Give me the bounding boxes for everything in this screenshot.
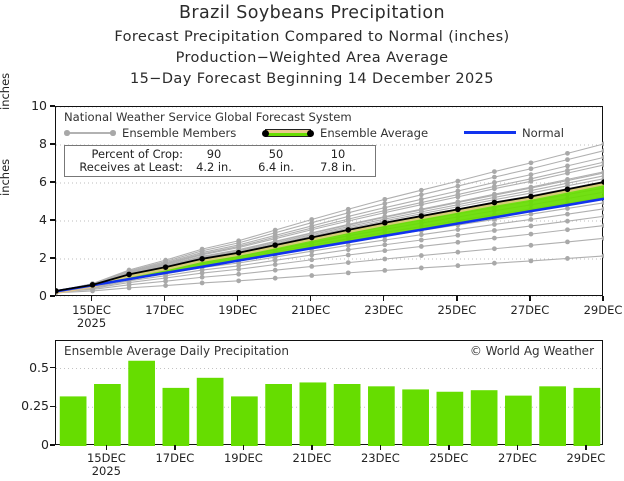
bottom-x-tick-mark — [585, 445, 586, 450]
main-y-tick: 2 — [7, 250, 47, 265]
percent-of-crop-box: Percent of Crop: 90 50 10 Receives at Le… — [64, 145, 376, 177]
copyright-label: © World Ag Weather — [470, 344, 594, 358]
main-x-tick-label: 19DEC — [218, 303, 257, 317]
main-x-tick-label: 29DEC — [584, 303, 623, 317]
chart-legend: Ensemble Members Ensemble Average Normal — [64, 126, 600, 140]
percentile-50: 50 — [245, 148, 307, 161]
main-x-tick-mark — [164, 296, 165, 301]
bottom-x-tick-label: 15DEC — [87, 451, 126, 465]
bottom-y-tick-mark — [50, 406, 55, 407]
bottom-y-tick: 0 — [5, 437, 49, 452]
bottom-x-tick-label: 21DEC — [292, 451, 331, 465]
main-y-tick: 8 — [7, 136, 47, 151]
main-x-tick-label: 27DEC — [511, 303, 550, 317]
main-x-tick-label: 21DEC — [291, 303, 330, 317]
legend-source-label: National Weather Service Global Forecast… — [64, 110, 352, 124]
daily-precip-bars — [60, 361, 600, 446]
ensemble-members-line-icon — [64, 127, 116, 139]
subtitle-line-3: 15−Day Forecast Beginning 14 December 20… — [0, 71, 624, 87]
main-x-axis-year: 2025 — [77, 316, 106, 330]
legend-ensemble-average: Ensemble Average — [262, 126, 428, 140]
bottom-y-axis-label: inches — [0, 94, 12, 110]
bottom-x-axis-year: 2025 — [92, 464, 121, 478]
bottom-x-tick-mark — [380, 445, 381, 450]
bottom-y-tick: 0.25 — [5, 398, 49, 413]
main-x-tick-mark — [237, 296, 238, 301]
bottom-x-tick-label: 23DEC — [361, 451, 400, 465]
main-y-tick: 0 — [7, 288, 47, 303]
legend-normal-label: Normal — [522, 126, 564, 140]
percentile-10: 10 — [307, 148, 369, 161]
main-x-tick-mark — [602, 296, 603, 301]
percent-of-crop-row: Percent of Crop: 90 50 10 — [71, 148, 369, 161]
main-x-tick-label: 15DEC — [72, 303, 111, 317]
main-y-tick-mark — [50, 181, 55, 182]
cumulative-precip-chart: National Weather Service Global Forecast… — [55, 106, 603, 296]
legend-ensemble-members: Ensemble Members — [64, 126, 236, 140]
main-x-tick-mark — [456, 296, 457, 301]
bottom-x-tick-label: 27DEC — [498, 451, 537, 465]
legend-members-label: Ensemble Members — [122, 126, 236, 140]
main-y-tick-mark — [50, 105, 55, 106]
receives-at-least-row: Receives at Least: 4.2 in. 6.4 in. 7.8 i… — [71, 161, 369, 174]
percentile-90: 90 — [183, 148, 245, 161]
bottom-x-tick-mark — [448, 445, 449, 450]
main-x-tick-label: 23DEC — [364, 303, 403, 317]
legend-normal: Normal — [464, 126, 564, 140]
receives-at-least-label: Receives at Least: — [71, 161, 183, 174]
amount-10: 7.8 in. — [307, 161, 369, 174]
amount-50: 6.4 in. — [245, 161, 307, 174]
main-x-tick-mark — [383, 296, 384, 301]
main-x-tick-label: 17DEC — [145, 303, 184, 317]
main-y-tick: 10 — [7, 98, 47, 113]
normal-line — [56, 199, 604, 292]
daily-precip-chart: Ensemble Average Daily Precipitation © W… — [55, 340, 603, 445]
bottom-x-tick-label: 19DEC — [224, 451, 263, 465]
bottom-x-tick-label: 25DEC — [429, 451, 468, 465]
legend-average-label: Ensemble Average — [320, 126, 428, 140]
main-x-tick-mark — [91, 296, 92, 301]
subtitle-line-1: Forecast Precipitation Compared to Norma… — [0, 29, 624, 45]
main-x-tick-mark — [529, 296, 530, 301]
bottom-chart-title: Ensemble Average Daily Precipitation — [64, 344, 289, 358]
bottom-x-tick-mark — [174, 445, 175, 450]
subtitle-line-2: Production−Weighted Area Average — [0, 50, 624, 66]
ensemble-average-swatch-icon — [262, 127, 314, 139]
bottom-x-tick-label: 29DEC — [566, 451, 605, 465]
bottom-x-tick-mark — [106, 445, 107, 450]
bottom-x-tick-mark — [311, 445, 312, 450]
percent-of-crop-label: Percent of Crop: — [71, 148, 183, 161]
normal-line-icon — [464, 127, 516, 139]
main-y-tick-mark — [50, 257, 55, 258]
amount-90: 4.2 in. — [183, 161, 245, 174]
main-x-tick-mark — [310, 296, 311, 301]
main-y-tick: 4 — [7, 212, 47, 227]
main-x-tick-label: 25DEC — [437, 303, 476, 317]
main-y-tick-mark — [50, 143, 55, 144]
bottom-y-tick-mark — [50, 444, 55, 445]
bottom-x-tick-mark — [517, 445, 518, 450]
bottom-x-tick-mark — [243, 445, 244, 450]
bottom-y-tick-mark — [50, 367, 55, 368]
main-y-tick: 6 — [7, 174, 47, 189]
main-y-tick-mark — [50, 295, 55, 296]
chart-page: Brazil Soybeans Precipitation Forecast P… — [0, 0, 624, 481]
bottom-y-tick: 0.5 — [5, 360, 49, 375]
bottom-x-tick-label: 17DEC — [155, 451, 194, 465]
page-title: Brazil Soybeans Precipitation — [0, 3, 624, 23]
main-y-tick-mark — [50, 219, 55, 220]
